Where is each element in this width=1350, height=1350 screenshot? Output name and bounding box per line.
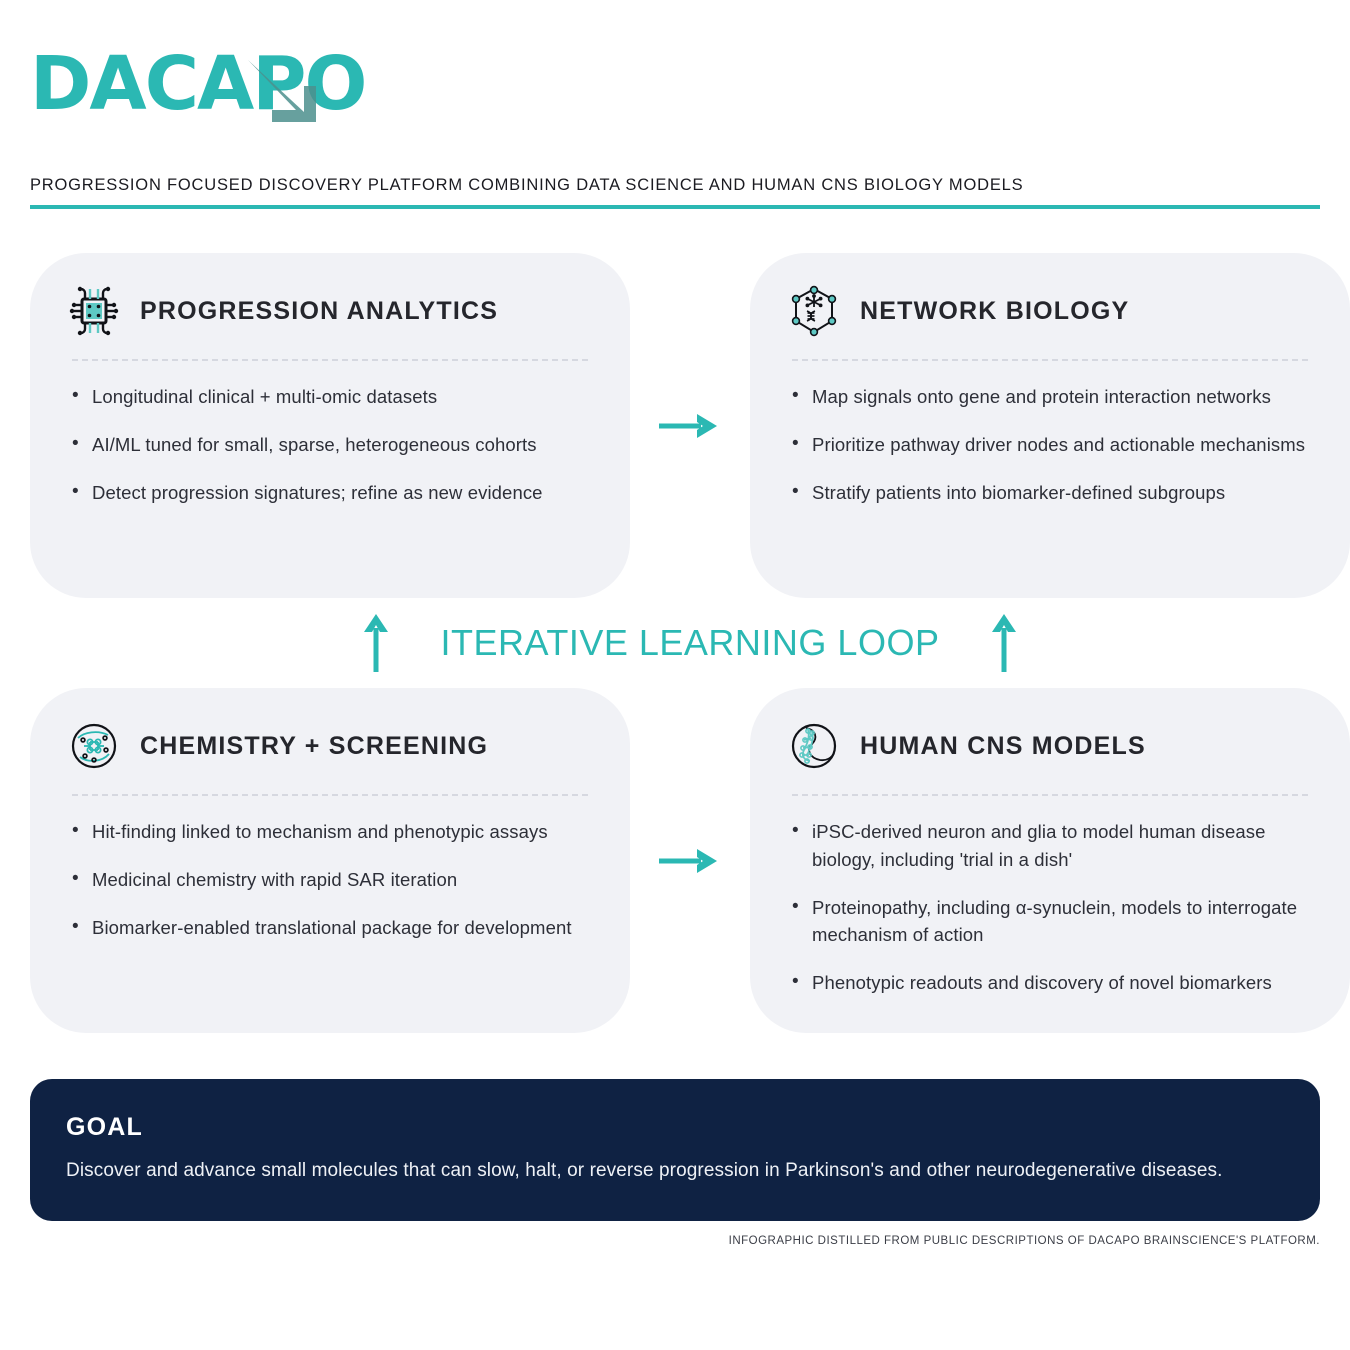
card-bullet-list: iPSC-derived neuron and glia to model hu…: [788, 818, 1312, 997]
list-item: iPSC-derived neuron and glia to model hu…: [788, 818, 1312, 874]
card-header: NETWORK BIOLOGY: [788, 285, 1312, 337]
list-item: Hit-finding linked to mechanism and phen…: [68, 818, 592, 846]
flow-arrow-bottom: [630, 688, 750, 1033]
loop-label: ITERATIVE LEARNING LOOP: [441, 622, 940, 664]
list-item: Detect progression signatures; refine as…: [68, 479, 592, 507]
goal-panel: GOAL Discover and advance small molecule…: [30, 1079, 1320, 1221]
petri-dish-molecule-icon: [68, 720, 120, 772]
header-rule: [30, 205, 1320, 209]
list-item: Longitudinal clinical + multi-omic datas…: [68, 383, 592, 411]
network-hexagon-icon: [788, 285, 840, 337]
arrow-up-icon: [359, 612, 393, 674]
card-title: PROGRESSION ANALYTICS: [140, 297, 498, 326]
card-divider: [792, 794, 1308, 796]
card-human-cns-models[interactable]: HUMAN CNS MODELS iPSC-derived neuron and…: [750, 688, 1350, 1033]
list-item: Biomarker-enabled translational package …: [68, 914, 592, 942]
card-chemistry-screening[interactable]: CHEMISTRY + SCREENING Hit-finding linked…: [30, 688, 630, 1033]
card-progression-analytics[interactable]: PROGRESSION ANALYTICS Longitudinal clini…: [30, 253, 630, 598]
iterative-learning-loop: ITERATIVE LEARNING LOOP: [30, 598, 1350, 688]
card-header: HUMAN CNS MODELS: [788, 720, 1312, 772]
card-bullet-list: Hit-finding linked to mechanism and phen…: [68, 818, 592, 941]
arrow-right-icon: [657, 844, 723, 878]
card-bullet-list: Longitudinal clinical + multi-omic datas…: [68, 383, 592, 506]
card-title: NETWORK BIOLOGY: [860, 297, 1129, 326]
footer-note: INFOGRAPHIC DISTILLED FROM PUBLIC DESCRI…: [30, 1235, 1320, 1247]
list-item: Prioritize pathway driver nodes and acti…: [788, 431, 1312, 459]
list-item: AI/ML tuned for small, sparse, heterogen…: [68, 431, 592, 459]
list-item: Map signals onto gene and protein intera…: [788, 383, 1312, 411]
page-subtitle: PROGRESSION FOCUSED DISCOVERY PLATFORM C…: [30, 176, 1320, 195]
list-item: Phenotypic readouts and discovery of nov…: [788, 969, 1312, 997]
list-item: Stratify patients into biomarker-defined…: [788, 479, 1312, 507]
arrow-right-icon: [657, 409, 723, 443]
card-divider: [72, 794, 588, 796]
card-title: HUMAN CNS MODELS: [860, 732, 1146, 761]
card-bullet-list: Map signals onto gene and protein intera…: [788, 383, 1312, 506]
goal-title: GOAL: [66, 1113, 1284, 1142]
logo-arrow-icon: [242, 56, 322, 126]
header: DACAPO PROGRESSION FOCUSED DISCOVERY PLA…: [0, 0, 1350, 209]
card-header: PROGRESSION ANALYTICS: [68, 285, 592, 337]
card-network-biology[interactable]: NETWORK BIOLOGY Map signals onto gene an…: [750, 253, 1350, 598]
infographic-page: DACAPO PROGRESSION FOCUSED DISCOVERY PLA…: [0, 0, 1350, 1350]
card-header: CHEMISTRY + SCREENING: [68, 720, 592, 772]
cards-grid: PROGRESSION ANALYTICS Longitudinal clini…: [30, 253, 1320, 1033]
card-divider: [792, 359, 1308, 361]
microchip-icon: [68, 285, 120, 337]
list-item: Proteinopathy, including α-synuclein, mo…: [788, 894, 1312, 950]
arrow-up-icon: [987, 612, 1021, 674]
logo: DACAPO: [30, 34, 430, 134]
card-title: CHEMISTRY + SCREENING: [140, 732, 488, 761]
goal-body: Discover and advance small molecules tha…: [66, 1156, 1246, 1185]
flow-arrow-top: [630, 253, 750, 598]
brain-neuron-icon: [788, 720, 840, 772]
card-divider: [72, 359, 588, 361]
list-item: Medicinal chemistry with rapid SAR itera…: [68, 866, 592, 894]
subtitle-block: PROGRESSION FOCUSED DISCOVERY PLATFORM C…: [30, 176, 1320, 209]
